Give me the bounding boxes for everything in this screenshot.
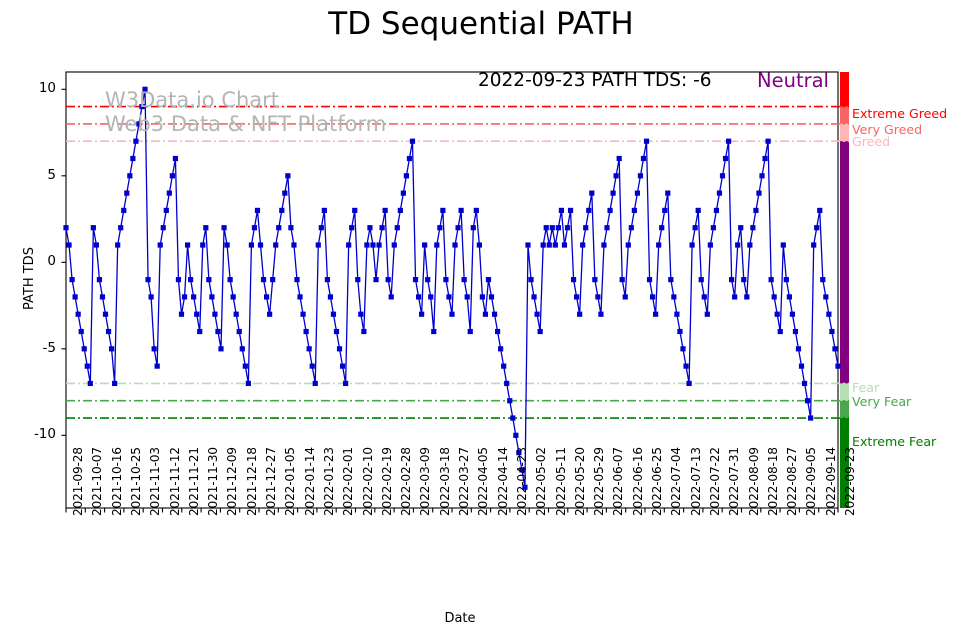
series-marker [328, 294, 333, 299]
series-marker [693, 225, 698, 230]
x-tick-label: 2021-11-21 [187, 447, 201, 516]
series-marker [796, 346, 801, 351]
series-marker [425, 277, 430, 282]
series-marker [386, 277, 391, 282]
series-marker [486, 277, 491, 282]
series-marker [300, 312, 305, 317]
zone-label-greed: Greed [852, 134, 890, 149]
series-marker [455, 225, 460, 230]
series-marker [407, 156, 412, 161]
series-marker [732, 294, 737, 299]
series-marker [282, 191, 287, 196]
y-tick-label: 10 [20, 80, 56, 96]
series-marker [112, 381, 117, 386]
series-marker [285, 173, 290, 178]
series-marker [483, 312, 488, 317]
series-marker [574, 294, 579, 299]
series-marker [352, 208, 357, 213]
series-marker [750, 225, 755, 230]
series-marker [492, 312, 497, 317]
series-marker [765, 139, 770, 144]
series-marker [674, 312, 679, 317]
series-marker [69, 277, 74, 282]
sentiment-badge: Neutral [757, 69, 829, 92]
x-tick-label: 2022-08-09 [747, 447, 761, 516]
series-marker [559, 208, 564, 213]
x-tick-label: 2021-11-12 [168, 447, 182, 516]
x-tick-label: 2022-04-14 [496, 447, 510, 516]
series-marker [73, 294, 78, 299]
x-tick-label: 2022-05-20 [573, 447, 587, 516]
series-marker [525, 242, 530, 247]
series-marker [592, 277, 597, 282]
series-marker [577, 312, 582, 317]
series-marker [401, 191, 406, 196]
series-marker [683, 364, 688, 369]
series-marker [355, 277, 360, 282]
series-marker [717, 191, 722, 196]
series-marker [686, 381, 691, 386]
series-marker [778, 329, 783, 334]
series-marker [835, 364, 840, 369]
series-marker [325, 277, 330, 282]
x-tick-label: 2022-07-13 [689, 447, 703, 516]
series-marker [535, 312, 540, 317]
series-marker [203, 225, 208, 230]
series-marker [422, 242, 427, 247]
sentiment-zone-bar-3 [840, 141, 849, 383]
series-marker [759, 173, 764, 178]
zone-label-fear: Fear [852, 380, 879, 395]
series-marker [775, 312, 780, 317]
series-marker [772, 294, 777, 299]
series-marker [507, 398, 512, 403]
series-marker [121, 208, 126, 213]
x-axis-label: Date [0, 611, 920, 626]
y-axis-label: PATH TDS [22, 247, 37, 310]
series-marker [197, 329, 202, 334]
series-marker [133, 139, 138, 144]
series-marker [334, 329, 339, 334]
series-marker [829, 329, 834, 334]
series-marker [364, 242, 369, 247]
series-marker [556, 225, 561, 230]
series-marker [550, 225, 555, 230]
series-marker [428, 294, 433, 299]
x-tick-label: 2022-02-10 [361, 447, 375, 516]
series-marker [769, 277, 774, 282]
series-marker [471, 225, 476, 230]
x-tick-label: 2022-03-18 [438, 447, 452, 516]
series-marker [337, 346, 342, 351]
series-marker [680, 346, 685, 351]
x-tick-label: 2022-07-22 [708, 447, 722, 516]
series-marker [224, 242, 229, 247]
series-marker [431, 329, 436, 334]
series-marker [82, 346, 87, 351]
series-marker [662, 208, 667, 213]
series-marker [617, 156, 622, 161]
series-marker [185, 242, 190, 247]
series-marker [465, 294, 470, 299]
series-marker [149, 294, 154, 299]
series-marker [291, 242, 296, 247]
series-marker [538, 329, 543, 334]
series-marker [790, 312, 795, 317]
series-marker [452, 242, 457, 247]
x-tick-label: 2022-02-19 [380, 447, 394, 516]
x-tick-label: 2022-05-11 [554, 447, 568, 516]
x-tick-label: 2022-05-29 [592, 447, 606, 516]
series-marker [449, 312, 454, 317]
series-marker [635, 191, 640, 196]
series-marker [544, 225, 549, 230]
series-marker [234, 312, 239, 317]
series-marker [361, 329, 366, 334]
series-marker [145, 277, 150, 282]
x-tick-label: 2021-12-09 [225, 447, 239, 516]
series-marker [702, 294, 707, 299]
series-marker [434, 242, 439, 247]
x-tick-label: 2022-03-27 [457, 447, 471, 516]
series-marker [595, 294, 600, 299]
series-marker [723, 156, 728, 161]
series-marker [741, 277, 746, 282]
series-marker [79, 329, 84, 334]
series-marker [744, 294, 749, 299]
series-marker [598, 312, 603, 317]
series-marker [288, 225, 293, 230]
series-marker [66, 242, 71, 247]
series-marker [127, 173, 132, 178]
series-marker [650, 294, 655, 299]
series-marker [668, 277, 673, 282]
series-marker [276, 225, 281, 230]
series-marker [100, 294, 105, 299]
series-marker [832, 346, 837, 351]
series-marker [176, 277, 181, 282]
series-marker [787, 294, 792, 299]
sentiment-zone-bar-2 [840, 124, 849, 141]
series-marker [130, 156, 135, 161]
series-marker [610, 191, 615, 196]
series-marker [243, 364, 248, 369]
series-marker [194, 312, 199, 317]
series-marker [404, 173, 409, 178]
x-tick-label: 2022-04-05 [476, 447, 490, 516]
series-marker [626, 242, 631, 247]
series-marker [94, 242, 99, 247]
y-tick-label: -5 [20, 340, 56, 356]
x-tick-label: 2021-09-28 [71, 447, 85, 516]
series-marker [167, 191, 172, 196]
series-marker [565, 225, 570, 230]
series-marker [252, 225, 257, 230]
series-marker [383, 208, 388, 213]
series-marker [586, 208, 591, 213]
series-marker [501, 364, 506, 369]
y-tick-label: 5 [20, 167, 56, 183]
x-tick-label: 2022-07-04 [669, 447, 683, 516]
series-marker [620, 277, 625, 282]
x-tick-label: 2022-01-23 [322, 447, 336, 516]
series-marker [571, 277, 576, 282]
series-marker [468, 329, 473, 334]
series-marker [85, 364, 90, 369]
series-marker [358, 312, 363, 317]
watermark-line-1: W3Data.io Chart [105, 88, 279, 112]
series-marker [76, 312, 81, 317]
series-marker [413, 277, 418, 282]
series-marker [823, 294, 828, 299]
series-marker [240, 346, 245, 351]
series-marker [319, 225, 324, 230]
x-tick-label: 2022-01-05 [283, 447, 297, 516]
series-marker [656, 242, 661, 247]
x-tick-label: 2022-09-23 [843, 447, 857, 516]
series-marker [781, 242, 786, 247]
series-marker [690, 242, 695, 247]
series-marker [738, 225, 743, 230]
series-marker [726, 139, 731, 144]
series-marker [504, 381, 509, 386]
series-marker [392, 242, 397, 247]
series-marker [528, 277, 533, 282]
series-marker [607, 208, 612, 213]
x-tick-label: 2021-12-27 [264, 447, 278, 516]
series-marker [589, 191, 594, 196]
series-marker [182, 294, 187, 299]
x-tick-label: 2022-01-14 [303, 447, 317, 516]
series-marker [91, 225, 96, 230]
series-marker [604, 225, 609, 230]
series-marker [155, 364, 160, 369]
series-marker [580, 242, 585, 247]
series-marker [729, 277, 734, 282]
series-marker [474, 208, 479, 213]
series-marker [218, 346, 223, 351]
zone-label-extreme-greed: Extreme Greed [852, 106, 947, 121]
series-marker [343, 381, 348, 386]
series-marker [629, 225, 634, 230]
series-marker [647, 277, 652, 282]
x-tick-label: 2022-08-18 [766, 447, 780, 516]
series-marker [808, 415, 813, 420]
series-marker [541, 242, 546, 247]
series-marker [200, 242, 205, 247]
series-marker [553, 242, 558, 247]
series-marker [103, 312, 108, 317]
sentiment-zone-bar-4 [840, 383, 849, 400]
series-marker [419, 312, 424, 317]
series-marker [179, 312, 184, 317]
series-marker [158, 242, 163, 247]
series-marker [228, 277, 233, 282]
series-marker [267, 312, 272, 317]
x-tick-label: 2021-11-30 [206, 447, 220, 516]
series-marker [346, 242, 351, 247]
x-tick-label: 2022-03-09 [418, 447, 432, 516]
series-marker [747, 242, 752, 247]
series-marker [261, 277, 266, 282]
series-marker [462, 277, 467, 282]
series-marker [817, 208, 822, 213]
series-marker [547, 242, 552, 247]
series-marker [395, 225, 400, 230]
series-marker [756, 191, 761, 196]
x-tick-label: 2022-06-25 [650, 447, 664, 516]
series-marker [367, 225, 372, 230]
series-marker [735, 242, 740, 247]
series-marker [273, 242, 278, 247]
series-marker [784, 277, 789, 282]
sentiment-zone-bar-5 [840, 401, 849, 418]
series-marker [206, 277, 211, 282]
x-tick-label: 2022-06-07 [611, 447, 625, 516]
series-marker [638, 173, 643, 178]
series-marker [459, 208, 464, 213]
series-marker [379, 225, 384, 230]
zone-label-very-fear: Very Fear [852, 394, 911, 409]
series-marker [708, 242, 713, 247]
series-marker [215, 329, 220, 334]
series-marker [173, 156, 178, 161]
zone-label-extreme-fear: Extreme Fear [852, 434, 936, 449]
series-marker [389, 294, 394, 299]
series-marker [762, 156, 767, 161]
series-marker [212, 312, 217, 317]
series-marker [416, 294, 421, 299]
x-tick-label: 2021-10-25 [129, 447, 143, 516]
series-marker [495, 329, 500, 334]
series-marker [316, 242, 321, 247]
series-marker [331, 312, 336, 317]
series-marker [480, 294, 485, 299]
series-marker [349, 225, 354, 230]
series-marker [322, 208, 327, 213]
series-marker [811, 242, 816, 247]
series-marker [641, 156, 646, 161]
series-marker [826, 312, 831, 317]
series-marker [246, 381, 251, 386]
series-marker [279, 208, 284, 213]
series-marker [711, 225, 716, 230]
series-marker [443, 277, 448, 282]
series-marker [264, 294, 269, 299]
series-marker [437, 225, 442, 230]
x-tick-label: 2021-10-07 [90, 447, 104, 516]
series-marker [477, 242, 482, 247]
series-marker [583, 225, 588, 230]
series-marker [398, 208, 403, 213]
series-marker [805, 398, 810, 403]
series-marker [340, 364, 345, 369]
series-marker [188, 277, 193, 282]
x-tick-label: 2022-09-05 [804, 447, 818, 516]
series-marker [677, 329, 682, 334]
series-marker [799, 364, 804, 369]
series-marker [231, 294, 236, 299]
series-marker [705, 312, 710, 317]
sentiment-zone-bar-1 [840, 107, 849, 124]
series-marker [221, 225, 226, 230]
series-marker [106, 329, 111, 334]
x-tick-label: 2022-04-23 [515, 447, 529, 516]
series-marker [297, 294, 302, 299]
series-marker [498, 346, 503, 351]
x-tick-label: 2021-12-18 [245, 447, 259, 516]
series-marker [665, 191, 670, 196]
series-marker [714, 208, 719, 213]
series-marker [440, 208, 445, 213]
series-marker [696, 208, 701, 213]
series-marker [446, 294, 451, 299]
x-tick-label: 2021-11-03 [148, 447, 162, 516]
series-marker [255, 208, 260, 213]
series-marker [376, 242, 381, 247]
series-marker [562, 242, 567, 247]
series-marker [793, 329, 798, 334]
series-marker [753, 208, 758, 213]
series-marker [294, 277, 299, 282]
y-tick-label: -10 [20, 426, 56, 442]
series-marker [164, 208, 169, 213]
series-marker [109, 346, 114, 351]
chart-page: TD Sequential PATH 1050-5-102021-09-2820… [0, 0, 962, 633]
series-marker [97, 277, 102, 282]
series-marker [720, 173, 725, 178]
series-marker [601, 242, 606, 247]
series-marker [644, 139, 649, 144]
sentiment-zone-bar-0 [840, 72, 849, 107]
watermark-line-2: Web3 Data & NFT Platform [105, 112, 386, 136]
series-marker [653, 312, 658, 317]
series-marker [124, 191, 129, 196]
series-marker [310, 364, 315, 369]
series-marker [304, 329, 309, 334]
series-marker [313, 381, 318, 386]
x-tick-label: 2022-05-02 [534, 447, 548, 516]
x-tick-label: 2022-07-31 [727, 447, 741, 516]
series-marker [88, 381, 93, 386]
status-annotation: 2022-09-23 PATH TDS: -6 [478, 70, 712, 91]
series-marker [118, 225, 123, 230]
series-marker [699, 277, 704, 282]
series-marker [513, 433, 518, 438]
series-marker [671, 294, 676, 299]
x-tick-label: 2022-02-28 [399, 447, 413, 516]
x-tick-label: 2022-08-27 [785, 447, 799, 516]
series-marker [307, 346, 312, 351]
series-marker [489, 294, 494, 299]
series-marker [614, 173, 619, 178]
series-marker [814, 225, 819, 230]
series-marker [63, 225, 68, 230]
series-marker [820, 277, 825, 282]
series-marker [802, 381, 807, 386]
series-marker [659, 225, 664, 230]
series-marker [237, 329, 242, 334]
series-marker [152, 346, 157, 351]
series-marker [161, 225, 166, 230]
series-marker [249, 242, 254, 247]
series-marker [370, 242, 375, 247]
x-tick-label: 2022-09-14 [824, 447, 838, 516]
series-marker [632, 208, 637, 213]
series-marker [170, 173, 175, 178]
series-marker [270, 277, 275, 282]
series-marker [410, 139, 415, 144]
